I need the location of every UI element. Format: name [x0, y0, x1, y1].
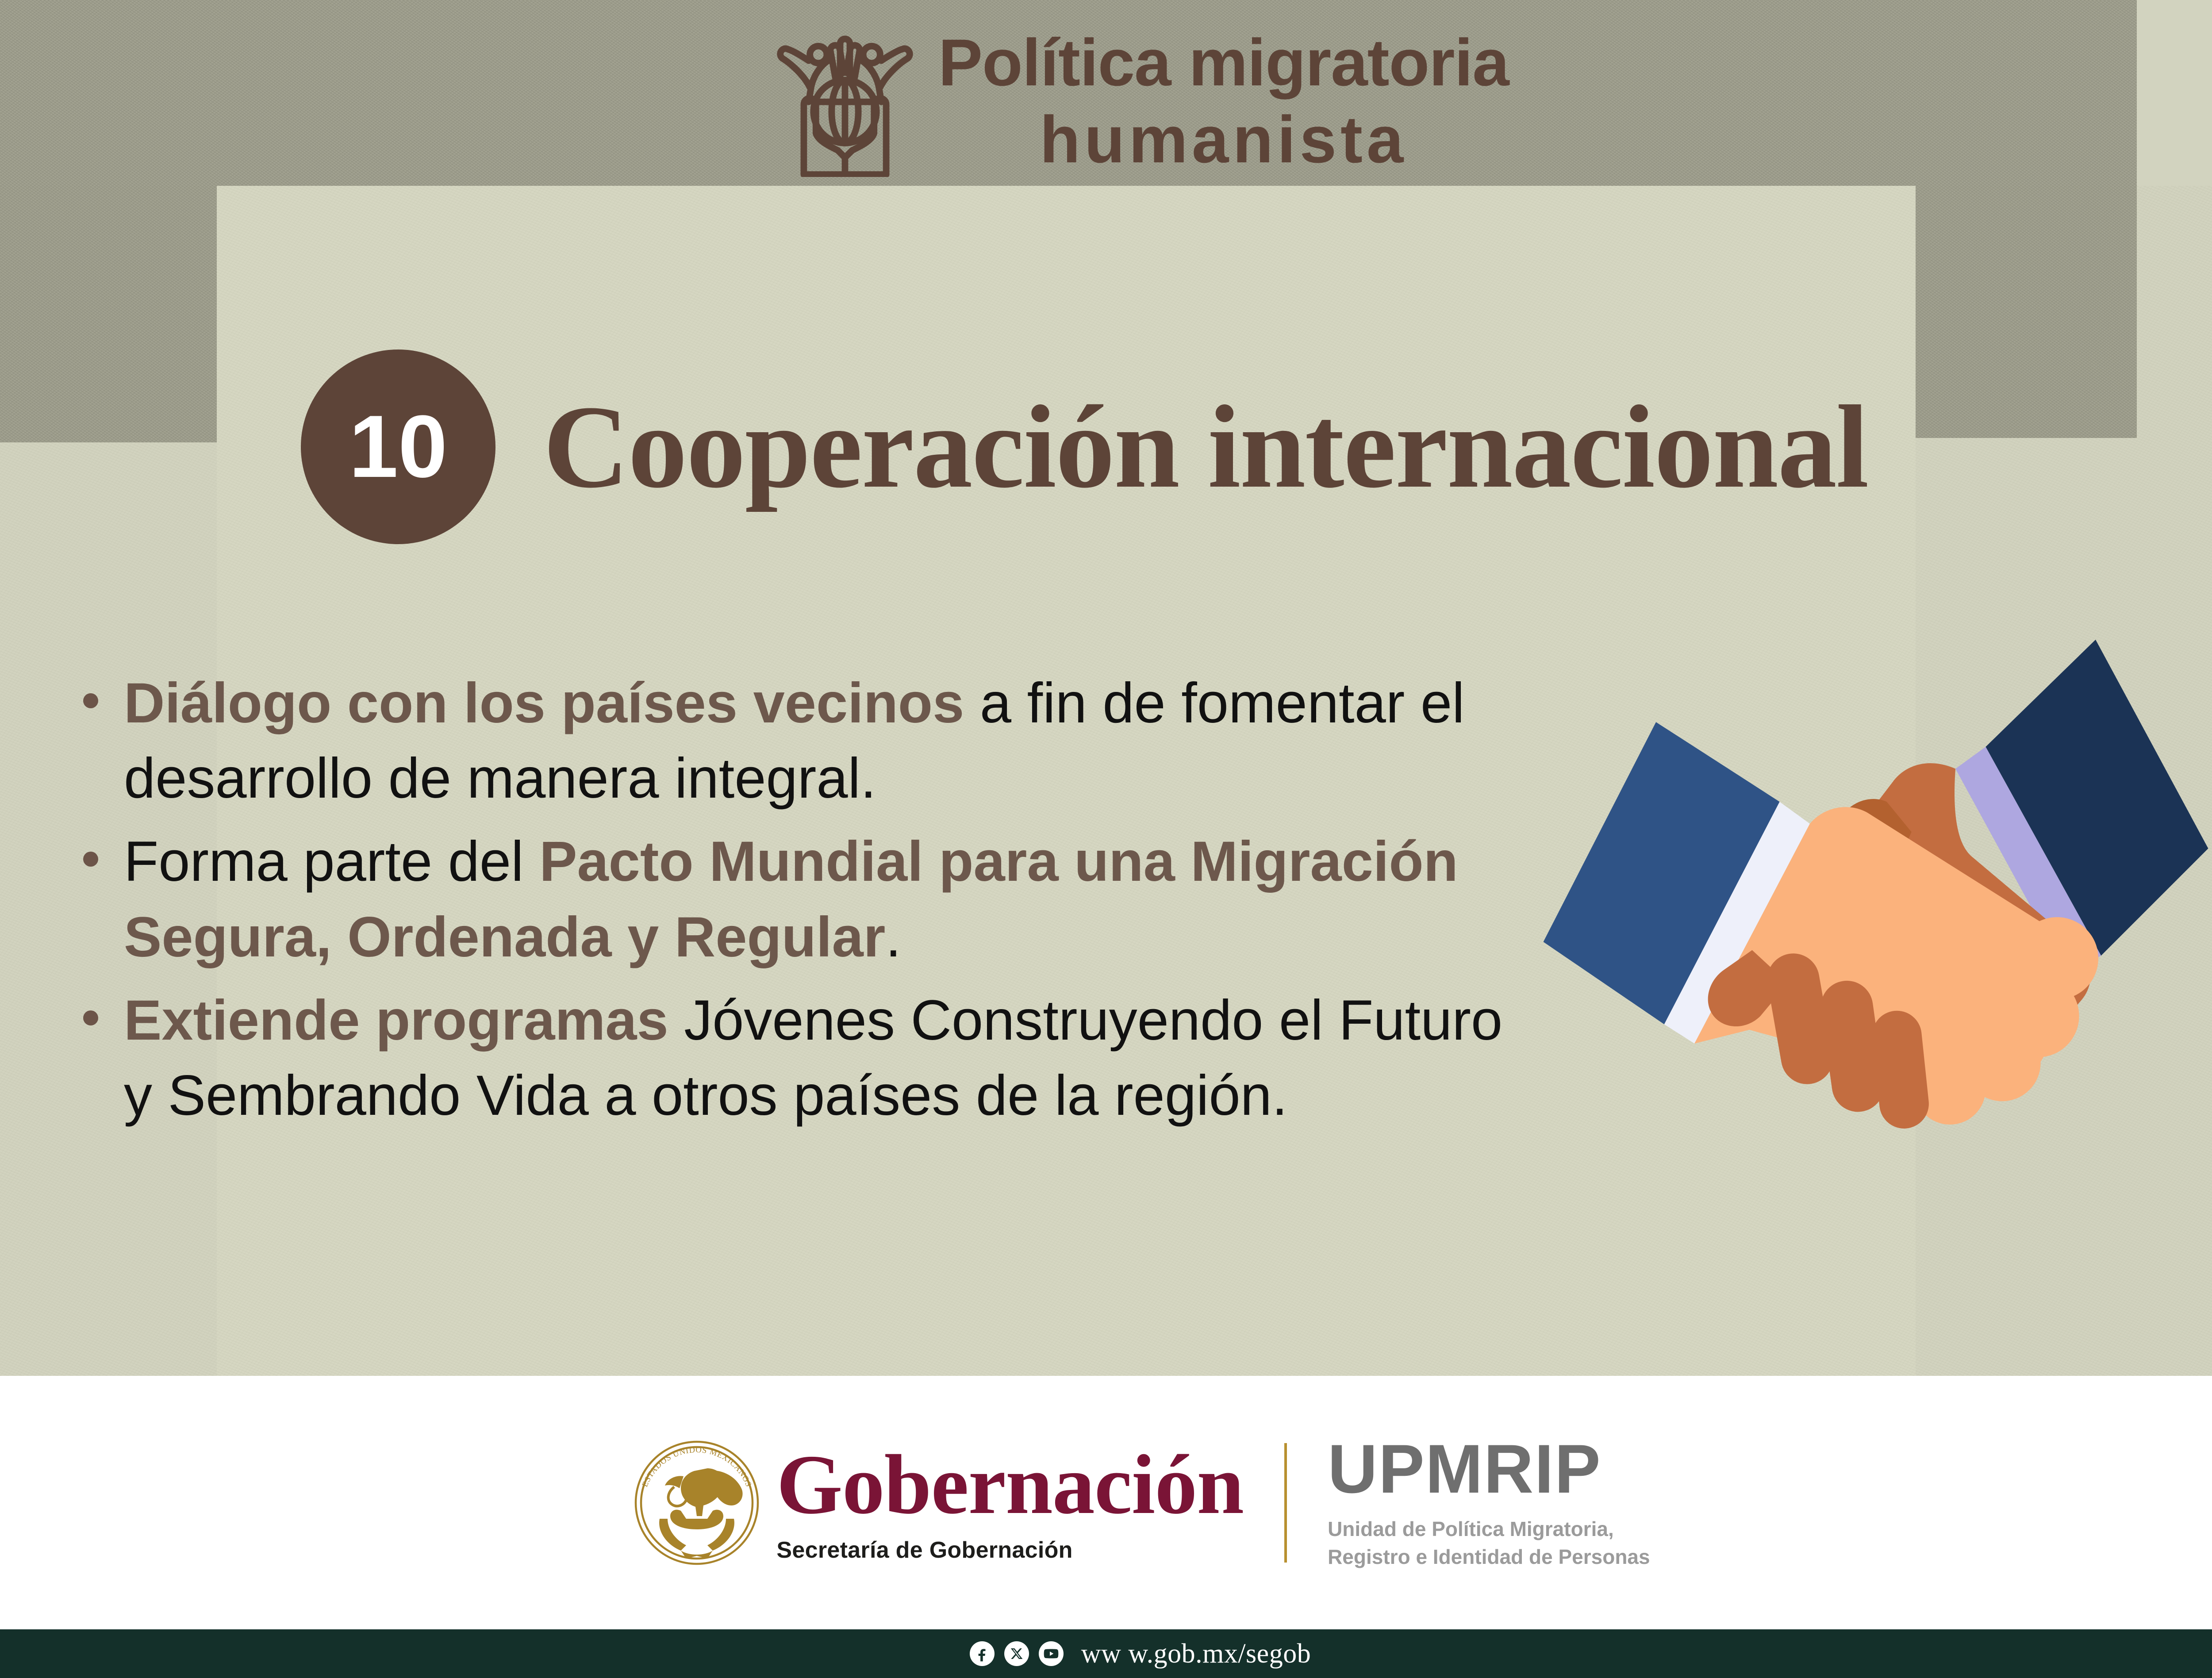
header: Política migratoria humanista	[772, 24, 1509, 177]
brand-text: Política migratoria humanista	[938, 29, 1509, 173]
segob-wordmark: Gobernación Secretaría de Gobernación	[776, 1442, 1244, 1563]
bullet-highlight: Extiende programas	[124, 989, 668, 1052]
hands-holding-globe-icon	[772, 24, 918, 177]
upmrip-subtitle-line-2: Registro e Identidad de Personas	[1328, 1543, 1650, 1570]
handshake-illustration	[1513, 615, 2212, 1137]
segob-subtitle: Secretaría de Gobernación	[776, 1537, 1244, 1563]
youtube-icon[interactable]	[1039, 1641, 1064, 1666]
bullet-lead: Forma parte del	[124, 830, 539, 893]
list-item: Diálogo con los países vecinos a fin de …	[66, 666, 1526, 816]
facebook-icon[interactable]	[970, 1641, 995, 1666]
bullet-text: .	[885, 906, 901, 969]
brand-line-2: humanista	[938, 106, 1509, 173]
mexican-coat-of-arms-icon: ESTADOS UNIDOS MEXICANOS	[630, 1436, 763, 1569]
bottom-bar: ww w.gob.mx/segob	[0, 1629, 2212, 1678]
bullet-list: Diálogo con los países vecinos a fin de …	[66, 666, 1526, 1141]
slide-canvas: Política migratoria humanista 10 Coopera…	[0, 0, 2212, 1678]
brand-line-1: Política migratoria	[938, 29, 1509, 96]
upmrip-wordmark: UPMRIP Unidad de Política Migratoria, Re…	[1328, 1435, 1650, 1570]
upmrip-subtitle-line-1: Unidad de Política Migratoria,	[1328, 1515, 1650, 1543]
x-twitter-icon[interactable]	[1004, 1641, 1029, 1666]
section-number-badge: 10	[301, 349, 495, 544]
website-url[interactable]: ww w.gob.mx/segob	[1081, 1638, 1311, 1670]
page-title: Cooperación internacional	[543, 379, 1868, 515]
bullet-highlight: Diálogo con los países vecinos	[124, 672, 964, 735]
list-item: Extiende programas Jóvenes Construyendo …	[66, 983, 1526, 1133]
upmrip-title: UPMRIP	[1328, 1435, 1650, 1504]
footer: ESTADOS UNIDOS MEXICANOS Gobernación Sec…	[0, 1376, 2212, 1629]
segob-title: Gobernación	[776, 1442, 1244, 1527]
list-item: Forma parte del Pacto Mundial para una M…	[66, 824, 1526, 975]
title-row: 10 Cooperación internacional	[301, 349, 1868, 544]
footer-divider	[1284, 1443, 1287, 1563]
